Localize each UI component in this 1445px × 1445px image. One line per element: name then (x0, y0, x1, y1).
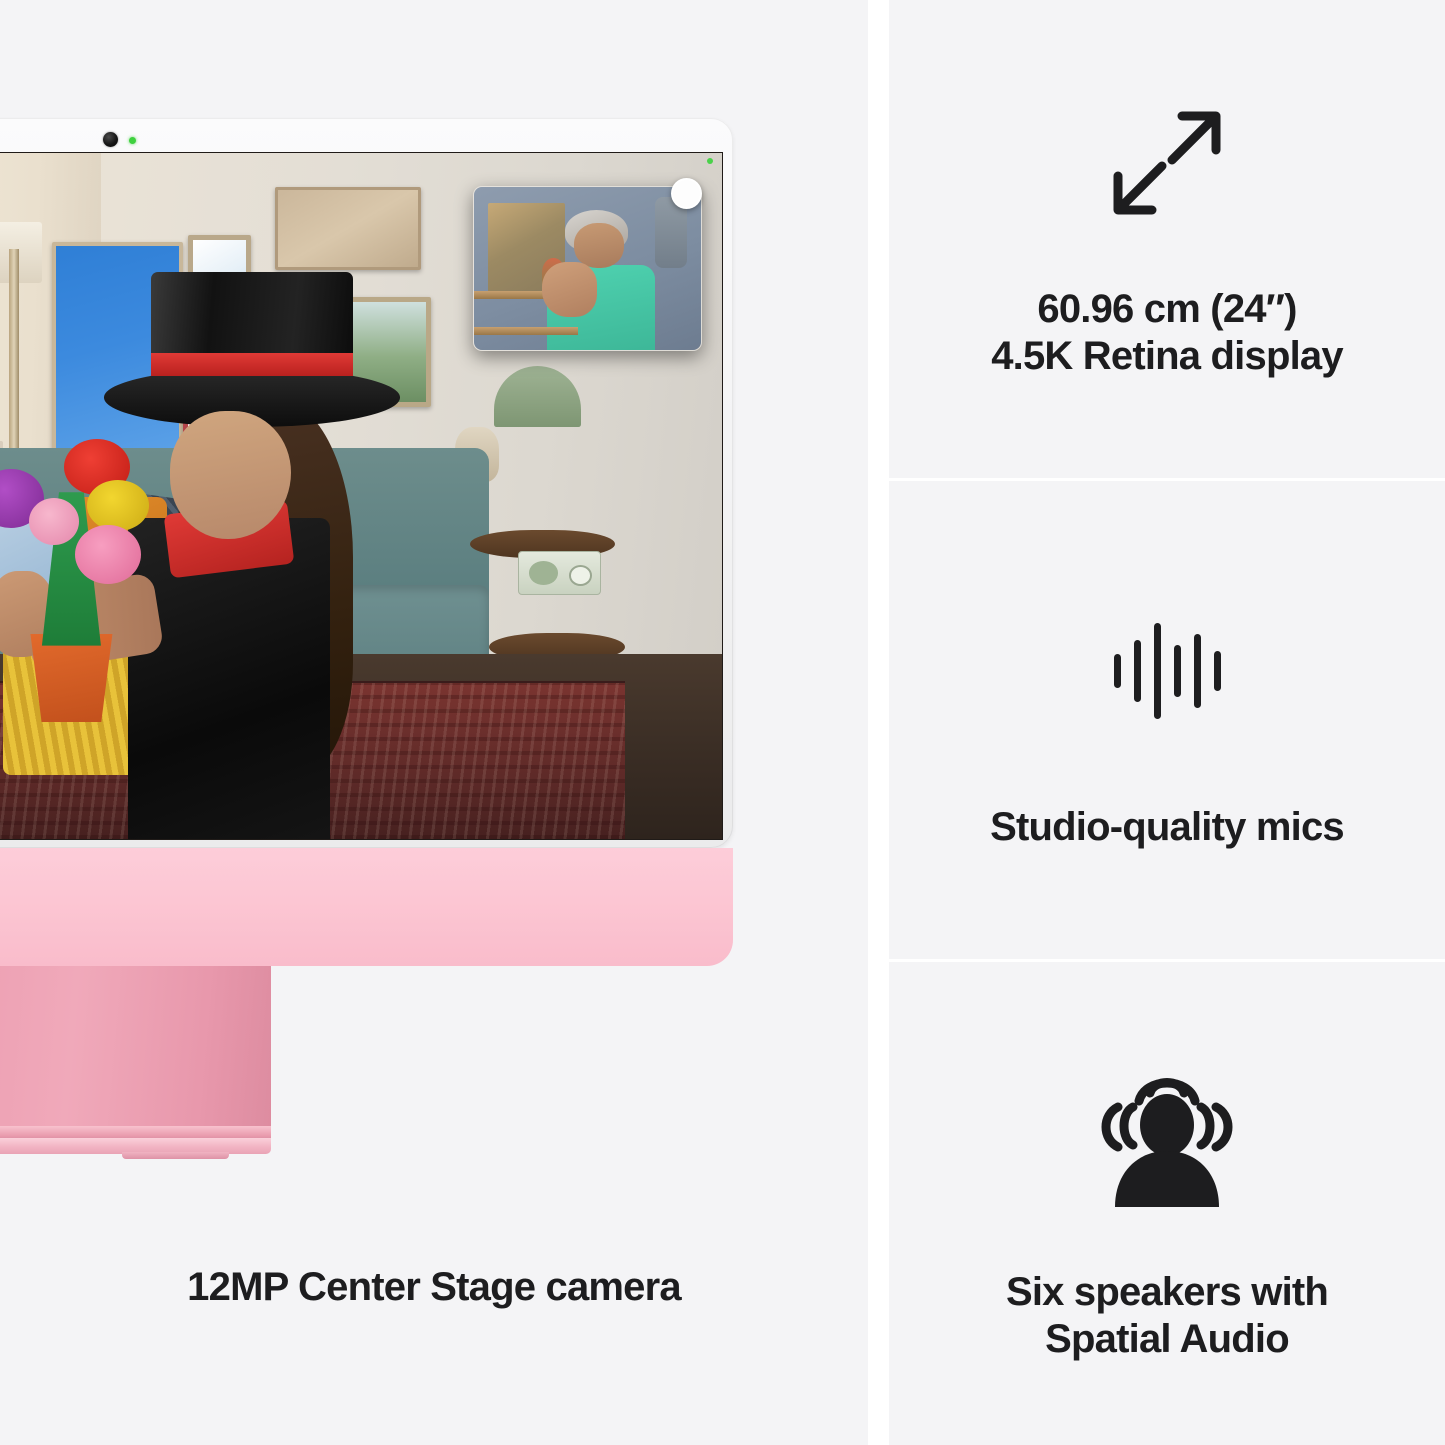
waveform-bar (1214, 651, 1221, 691)
imac-stand-foot (122, 1152, 228, 1159)
imac-pink-chin (0, 848, 733, 966)
pip-person-hands (542, 262, 596, 317)
scene-flower-bouquet (0, 427, 169, 722)
scene-petal-yellow (87, 480, 149, 530)
green-recording-dot-icon (129, 137, 136, 144)
waveform-bar (1114, 654, 1121, 688)
feature-label-audio-line-2: Spatial Audio (915, 1316, 1419, 1363)
audio-waveform-icon (889, 616, 1445, 726)
facetime-self-view-tile[interactable] (473, 186, 701, 351)
waveform-bar (1134, 640, 1141, 702)
scene-petal-pink (75, 525, 141, 584)
scene-child-top-hat-band (151, 353, 353, 375)
imac-screen (0, 152, 723, 840)
feature-card-mics: Studio-quality mics (889, 481, 1445, 959)
feature-label-audio-line-1: Six speakers with (915, 1269, 1419, 1316)
scene-floor-lamp-shade (0, 222, 42, 284)
camera-lens-icon (103, 132, 118, 147)
pip-person-face (574, 223, 624, 269)
diagonal-resize-arrows-icon (889, 102, 1445, 224)
waveform-bar (1174, 645, 1181, 697)
waveform-bar (1154, 623, 1161, 719)
camera-feature-panel: 12MP Center Stage camera (0, 0, 868, 1445)
feature-label-audio: Six speakers with Spatial Audio (889, 1269, 1445, 1363)
feature-label-display: 60.96 cm (24″) 4.5K Retina display (889, 286, 1445, 380)
pip-shelf-lower (474, 327, 578, 335)
feature-cards-column: 60.96 cm (24″) 4.5K Retina display Studi… (889, 0, 1445, 1445)
imac-stand (0, 966, 271, 1156)
feature-card-display: 60.96 cm (24″) 4.5K Retina display (889, 0, 1445, 478)
feature-card-audio: Six speakers with Spatial Audio (889, 962, 1445, 1445)
waveform-bars (1114, 621, 1221, 721)
scene-child-magician (120, 304, 508, 839)
spatial-audio-person-icon (889, 1052, 1445, 1217)
feature-label-display-line-1: 60.96 cm (24″) (915, 286, 1419, 333)
waveform-bar (1194, 634, 1201, 708)
imac-stand-neck (0, 966, 271, 1134)
scene-radio (518, 551, 601, 596)
imac-device (0, 118, 733, 966)
feature-label-display-line-2: 4.5K Retina display (915, 333, 1419, 380)
camera-feature-caption: 12MP Center Stage camera (0, 1265, 868, 1310)
feature-label-mics-line-1: Studio-quality mics (915, 804, 1419, 851)
feature-grid-canvas: 12MP Center Stage camera 60.96 cm (24″) … (0, 0, 1445, 1445)
record-circle-icon[interactable] (671, 178, 702, 209)
facetime-video-scene (0, 153, 722, 839)
imac-display-bezel (0, 118, 733, 848)
scene-framed-map (275, 187, 421, 269)
feature-label-mics: Studio-quality mics (889, 804, 1445, 851)
scene-flower-pot (25, 634, 118, 722)
